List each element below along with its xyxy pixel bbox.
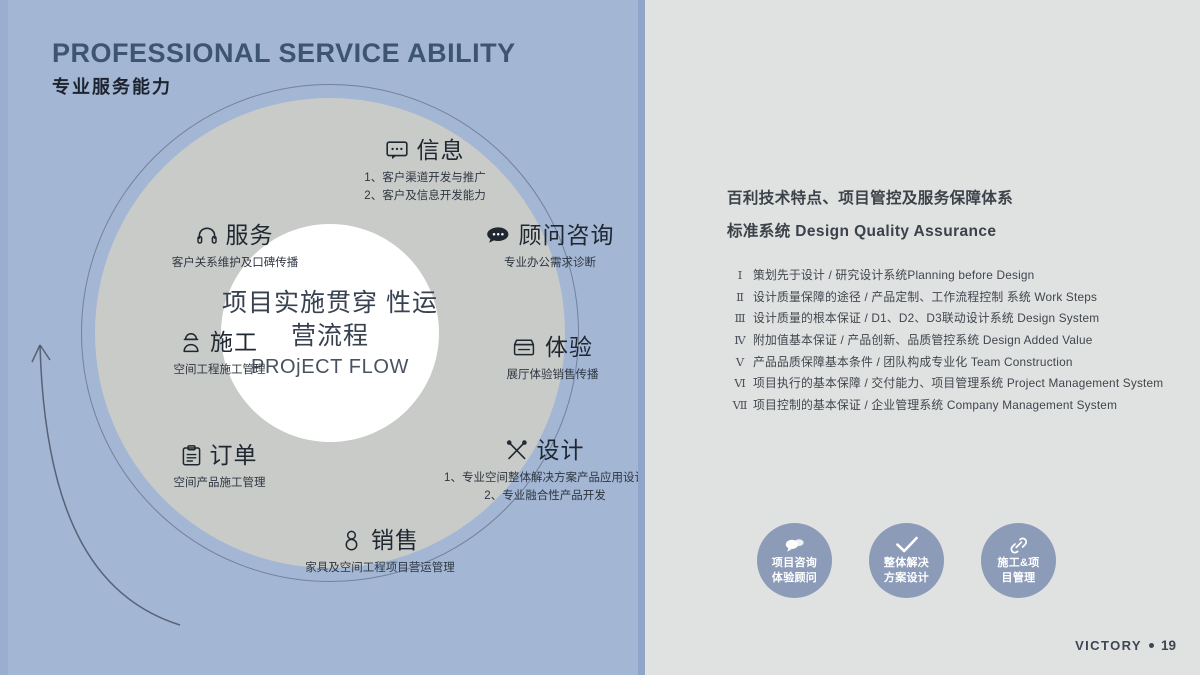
panel-divider: [638, 0, 645, 675]
footer-separator-dot: [1149, 643, 1154, 648]
page-number: 19: [1161, 638, 1176, 653]
headset-icon: [197, 226, 217, 246]
diagram-node-service[interactable]: 服务 客户关系维护及口碑传播: [100, 223, 370, 273]
clipboard-icon: [182, 445, 201, 466]
list-item: Ⅴ 产品品质保障基本条件 / 团队构成专业化 Team Construction: [727, 357, 1187, 370]
capability-badges: 项目咨询 体验顾问 整体解决 方案设计: [757, 523, 1056, 598]
badge-solution-design[interactable]: 整体解决 方案设计: [869, 523, 944, 598]
node-desc-line: 1、客户渠道开发与推广: [270, 170, 580, 188]
badge-label: 整体解决 方案设计: [884, 556, 929, 585]
badge-label-line: 整体解决: [884, 556, 929, 571]
people-icon: [341, 530, 362, 551]
badge-consulting[interactable]: 项目咨询 体验顾问: [757, 523, 832, 598]
badge-label-line: 施工&项: [997, 556, 1039, 571]
item-text: 策划先于设计 / 研究设计系统Planning before Design: [753, 270, 1034, 282]
list-item: Ⅰ 策划先于设计 / 研究设计系统Planning before Design: [727, 270, 1187, 283]
left-edge-accent: [0, 0, 8, 675]
badge-label-line: 体验顾问: [772, 571, 817, 586]
item-text: 产品品质保障基本条件 / 团队构成专业化 Team Construction: [753, 357, 1073, 369]
item-numeral: Ⅰ: [727, 271, 753, 283]
list-item: Ⅵ 项目执行的基本保障 / 交付能力、项目管理系统 Project Manage…: [727, 378, 1187, 391]
node-title: 信息: [417, 138, 465, 163]
node-title: 订单: [210, 443, 258, 468]
heading-line-1: 百利技术特点、项目管控及服务保障体系: [727, 183, 1177, 216]
item-numeral: Ⅶ: [727, 401, 753, 413]
node-title: 销售: [371, 528, 419, 553]
worker-icon: [181, 332, 201, 353]
right-panel-heading: 百利技术特点、项目管控及服务保障体系 标准系统 Design Quality A…: [727, 183, 1177, 248]
diagram-node-construction[interactable]: 施工 空间工程施工管理: [87, 330, 352, 380]
node-description: 空间工程施工管理: [87, 362, 352, 379]
node-header: 销售: [225, 528, 535, 553]
project-flow-diagram: 项目实施贯穿 性运营流程 PROjECT FLOW 信息: [95, 98, 565, 568]
diagram-node-info[interactable]: 信息 1、客户渠道开发与推广 2、客户及信息开发能力: [270, 138, 580, 206]
diagram-node-sales[interactable]: 销售 家具及空间工程项目营运管理: [225, 528, 535, 578]
badge-label: 施工&项 目管理: [997, 556, 1039, 585]
item-numeral: Ⅲ: [727, 314, 753, 326]
slide-footer: VICTORY 19: [1075, 638, 1176, 653]
brand-name: VICTORY: [1075, 638, 1142, 653]
storefront-icon: [512, 338, 536, 357]
speech-bubble-icon: [486, 226, 510, 245]
list-item: Ⅲ 设计质量的根本保证 / D1、D2、D3联动设计系统 Design Syst…: [727, 313, 1187, 326]
title-english: PROFESSIONAL SERVICE ABILITY: [52, 38, 516, 69]
node-desc-line: 2、客户及信息开发能力: [270, 188, 580, 206]
link-icon: [1009, 535, 1029, 555]
badge-label-line: 目管理: [997, 571, 1039, 586]
node-header: 信息: [270, 138, 580, 163]
badge-construction-management[interactable]: 施工&项 目管理: [981, 523, 1056, 598]
list-item: Ⅶ 项目控制的基本保证 / 企业管理系统 Company Management …: [727, 400, 1187, 413]
badge-label-line: 项目咨询: [772, 556, 817, 571]
badge-label: 项目咨询 体验顾问: [772, 556, 817, 585]
node-description: 空间产品施工管理: [87, 475, 352, 492]
item-text: 项目控制的基本保证 / 企业管理系统 Company Management Sy…: [753, 400, 1117, 412]
list-item: Ⅳ 附加值基本保证 / 产品创新、品质管控系统 Design Added Val…: [727, 335, 1187, 348]
item-numeral: Ⅳ: [727, 336, 753, 348]
chat-bubbles-icon: [784, 535, 805, 555]
heading-line-2: 标准系统 Design Quality Assurance: [727, 216, 1177, 249]
hub-line-1: 项目实施贯穿: [222, 289, 378, 317]
node-header: 施工: [87, 330, 352, 355]
node-title: 施工: [210, 330, 258, 355]
item-text: 设计质量的根本保证 / D1、D2、D3联动设计系统 Design System: [753, 313, 1099, 325]
node-title: 服务: [226, 223, 274, 248]
chat-box-icon: [386, 141, 408, 160]
item-text: 设计质量保障的途径 / 产品定制、工作流程控制 系统 Work Steps: [753, 292, 1097, 304]
item-numeral: Ⅴ: [727, 358, 753, 370]
node-description: 家具及空间工程项目营运管理: [225, 560, 535, 577]
item-numeral: Ⅱ: [727, 293, 753, 305]
badge-label-line: 方案设计: [884, 571, 929, 586]
slide: PROFESSIONAL SERVICE ABILITY 专业服务能力 项目实施…: [0, 0, 1200, 675]
item-text: 附加值基本保证 / 产品创新、品质管控系统 Design Added Value: [753, 335, 1093, 347]
node-header: 订单: [87, 443, 352, 468]
node-title: 体验: [545, 335, 593, 360]
check-icon: [895, 535, 919, 555]
node-title: 设计: [537, 438, 585, 463]
list-item: Ⅱ 设计质量保障的途径 / 产品定制、工作流程控制 系统 Work Steps: [727, 292, 1187, 305]
item-numeral: Ⅵ: [727, 379, 753, 391]
compass-tools-icon: [506, 440, 528, 461]
assurance-list: Ⅰ 策划先于设计 / 研究设计系统Planning before Design …: [727, 270, 1187, 422]
item-text: 项目执行的基本保障 / 交付能力、项目管理系统 Project Manageme…: [753, 378, 1163, 390]
node-title: 顾问咨询: [519, 223, 615, 248]
node-description: 1、客户渠道开发与推广 2、客户及信息开发能力: [270, 170, 580, 206]
node-header: 服务: [100, 223, 370, 248]
node-description: 客户关系维护及口碑传播: [100, 255, 370, 272]
diagram-node-order[interactable]: 订单 空间产品施工管理: [87, 443, 352, 493]
